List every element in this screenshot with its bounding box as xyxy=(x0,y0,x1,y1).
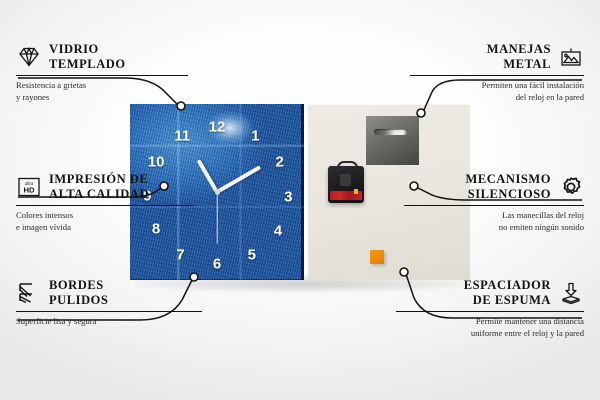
feature-header: MANEJAS METAL xyxy=(410,42,584,72)
feature-header: ESPACIADOR DE ESPUMA xyxy=(396,278,584,308)
mechanism-shaft xyxy=(340,174,351,186)
feature-title: BORDES PULIDOS xyxy=(49,278,108,308)
clock-second-hand xyxy=(216,192,217,244)
clock-numeral-5: 5 xyxy=(248,248,256,263)
diamond-icon xyxy=(16,45,42,69)
feature-header: ultra HD IMPRESIÓN DE ALTA CALIDAD xyxy=(16,172,194,202)
feature-description: Resistencia a grietas y rayones xyxy=(16,80,188,103)
mechanism-hook xyxy=(337,161,358,171)
hanger-slot xyxy=(374,129,407,135)
gear-icon xyxy=(558,175,584,199)
feature-divider xyxy=(396,311,584,313)
feature-divider xyxy=(16,75,188,77)
clock-numeral-12: 12 xyxy=(209,119,226,134)
feature-espaciador-espuma: ESPACIADOR DE ESPUMA Permite mantener un… xyxy=(396,278,584,339)
picture-frame-icon xyxy=(558,45,584,69)
clock-mechanism-part xyxy=(328,166,364,203)
feature-header: MECANISMO SILENCIOSO xyxy=(404,172,584,202)
feature-title: IMPRESIÓN DE ALTA CALIDAD xyxy=(49,172,149,202)
feature-mecanismo-silencioso: MECANISMO SILENCIOSO Las manecillas del … xyxy=(404,172,584,233)
feature-title: ESPACIADOR DE ESPUMA xyxy=(464,278,551,308)
clock-numeral-2: 2 xyxy=(275,155,283,170)
feature-title: VIDRIO TEMPLADO xyxy=(49,42,126,72)
clock-numeral-11: 11 xyxy=(174,128,190,143)
feature-title: MECANISMO SILENCIOSO xyxy=(465,172,551,202)
feature-description: Permite mantener una distancia uniforme … xyxy=(396,316,584,339)
feature-divider xyxy=(410,75,584,77)
clock-numeral-7: 7 xyxy=(176,248,184,263)
foam-spacer-part xyxy=(370,250,384,264)
feature-impresion-alta-calidad: ultra HD IMPRESIÓN DE ALTA CALIDAD Color… xyxy=(16,172,194,233)
polished-edges-icon xyxy=(16,281,42,305)
feature-description: Superficie lisa y segura xyxy=(16,316,202,328)
feature-divider xyxy=(16,311,202,313)
feature-title: MANEJAS METAL xyxy=(487,42,551,72)
svg-text:HD: HD xyxy=(24,185,35,194)
feature-bordes-pulidos: BORDES PULIDOS Superficie lisa y segura xyxy=(16,278,202,328)
foam-spacer-icon xyxy=(558,281,584,305)
feature-description: Permiten una fácil instalación del reloj… xyxy=(410,80,584,103)
metal-hanger-part xyxy=(366,116,419,165)
ultra-hd-icon: ultra HD xyxy=(16,175,42,199)
clock-numeral-10: 10 xyxy=(148,155,165,170)
clock-numeral-4: 4 xyxy=(274,223,282,238)
feature-divider xyxy=(404,205,584,207)
clock-numeral-3: 3 xyxy=(284,190,292,205)
clock-numeral-6: 6 xyxy=(213,257,221,272)
clock-center-cap xyxy=(215,190,220,195)
feature-divider xyxy=(16,205,194,207)
feature-description: Colores intensos e imagen vívida xyxy=(16,210,194,233)
feature-vidrio-templado: VIDRIO TEMPLADO Resistencia a grietas y … xyxy=(16,42,188,103)
clock-numeral-1: 1 xyxy=(251,128,259,143)
feature-description: Las manecillas del reloj no emiten ningú… xyxy=(404,210,584,233)
infographic-canvas: 12 1 2 3 4 5 6 7 8 9 10 11 xyxy=(0,0,600,400)
feature-header: BORDES PULIDOS xyxy=(16,278,202,308)
feature-manejas-metal: MANEJAS METAL Permiten una fácil instala… xyxy=(410,42,584,103)
battery-label-part xyxy=(330,191,362,200)
feature-header: VIDRIO TEMPLADO xyxy=(16,42,188,72)
